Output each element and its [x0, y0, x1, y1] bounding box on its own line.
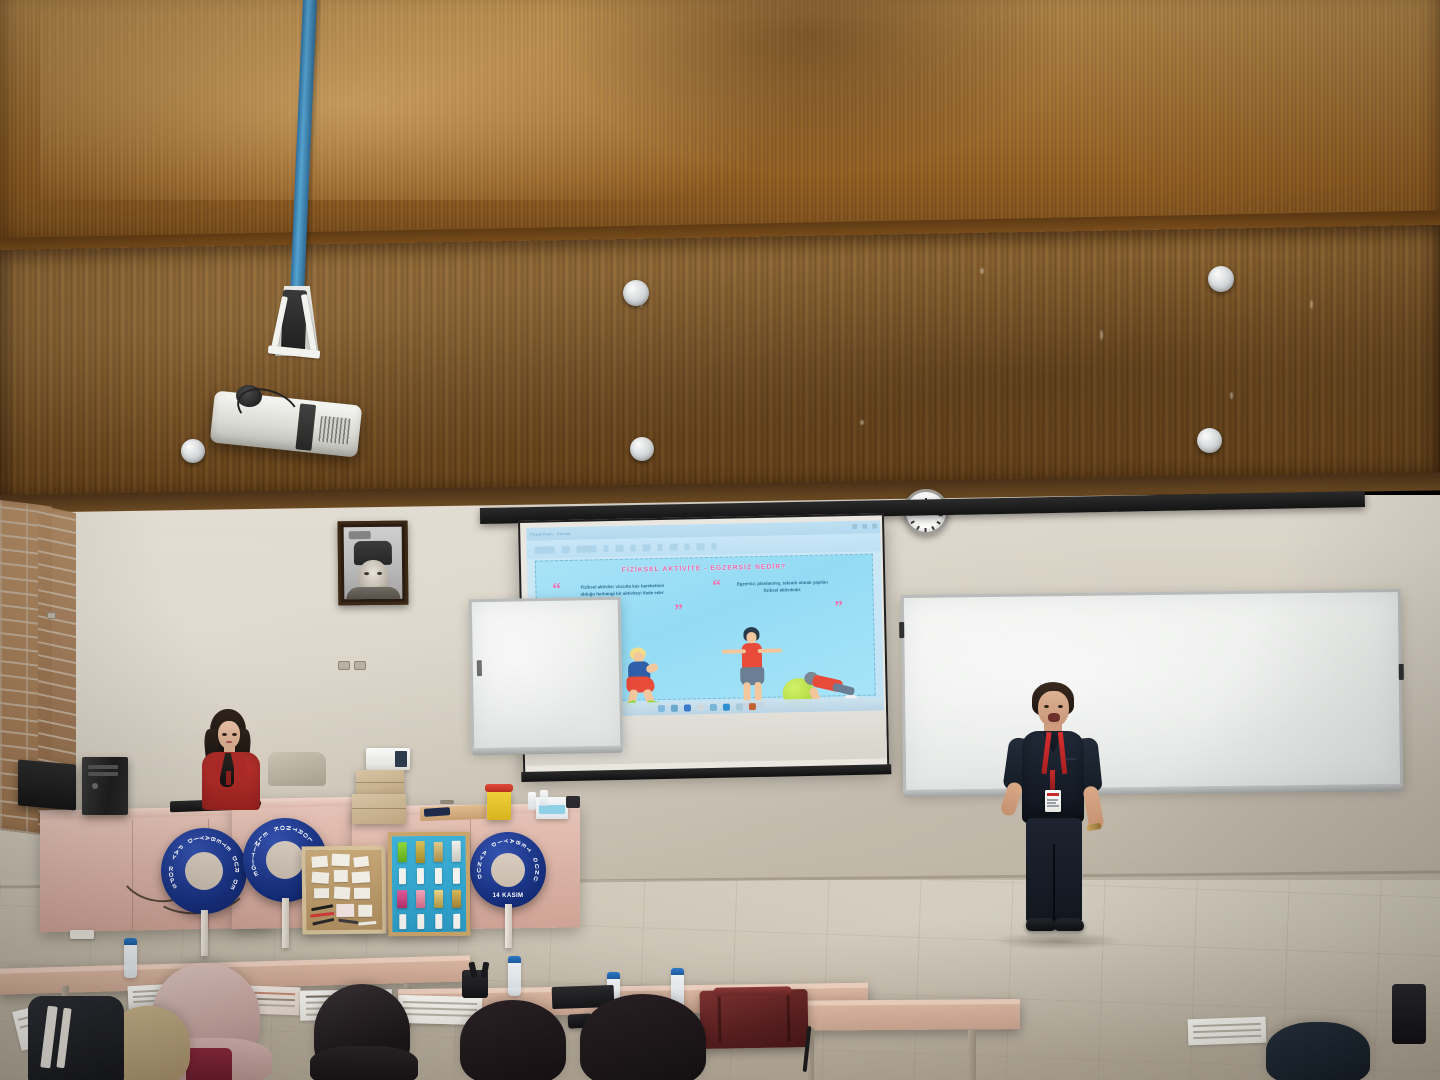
white-container [366, 748, 410, 770]
ceiling-speaker-icon [1197, 428, 1222, 453]
ceiling-speaker-icon [630, 437, 654, 461]
ppt-window-title: PowerPoint - Sunum [530, 531, 570, 537]
marker-icon[interactable] [477, 660, 482, 676]
ribbon-button[interactable] [616, 544, 624, 551]
wall-speck [980, 268, 984, 274]
ribbon-button[interactable] [535, 546, 555, 553]
portrait-body [346, 587, 400, 600]
wall-trim-piece [440, 800, 454, 804]
projector-vent-icon [318, 416, 351, 445]
small-bottle [540, 790, 548, 806]
whiteboard-left [469, 597, 624, 752]
cardboard-box [356, 770, 404, 796]
brochure[interactable] [1188, 1017, 1267, 1046]
power-outlet-icon [47, 612, 56, 619]
speaker-shoe-left [1026, 918, 1056, 931]
ribbon-button[interactable] [696, 543, 704, 550]
ribbon-button[interactable] [670, 543, 678, 550]
leather-bag[interactable] [700, 989, 809, 1049]
ceiling-shadow [560, 0, 1060, 170]
desk-leg [968, 1030, 976, 1080]
audience-head-long-hair [580, 994, 706, 1080]
quote-open-icon: “ [552, 583, 561, 595]
sign-dunya-diyabet-gunu: DÜNYA DİYABET GÜNÜ 14 KASIM [470, 832, 546, 908]
marker-icon[interactable] [899, 622, 904, 638]
speaker-shoe-right [1054, 918, 1084, 931]
teams-icon[interactable] [736, 703, 743, 710]
whiteboard-right [901, 589, 1403, 793]
mail-icon[interactable] [710, 704, 717, 711]
speaker-scrub-pants [1026, 818, 1082, 922]
monitor-back [18, 759, 76, 810]
ribbon-button[interactable] [711, 542, 716, 549]
sign-spor-yap: SPOR YAP DİYABETE DUR DE [161, 828, 247, 914]
portrait-logo-icon [349, 531, 371, 539]
ribbon-button[interactable] [658, 543, 663, 550]
powerpoint-icon[interactable] [749, 703, 756, 710]
ribbon-button[interactable] [643, 544, 651, 551]
id-badge [1045, 790, 1061, 812]
ceiling-light-glow [40, 0, 800, 200]
ataturk-portrait [338, 521, 409, 606]
power-strip [70, 930, 94, 939]
ribbon-button[interactable] [562, 545, 570, 552]
slide-quote-2: “ Egzersiz; planlanmış, tekrarlı olarak … [714, 579, 846, 595]
wall-speck [1100, 330, 1103, 340]
hijab-drape [310, 1046, 418, 1080]
sharps-container [487, 790, 511, 820]
ceiling-speaker-icon [1208, 266, 1234, 292]
wall-speck [1230, 392, 1233, 399]
equipment-right [1392, 984, 1426, 1044]
sign-spor-text: SPOR YAP DİYABETE DUR DE [161, 828, 247, 914]
lecture-hall-photo: PowerPoint - Sunum [0, 0, 1440, 1080]
moderator-face [218, 721, 240, 749]
word-icon[interactable] [723, 704, 730, 711]
quote-close-icon: ” [834, 601, 843, 613]
marker-icon[interactable] [1399, 664, 1404, 680]
sign-date-label: 14 KASIM [470, 893, 546, 899]
power-outlet-icon [354, 661, 366, 670]
ribbon-button[interactable] [631, 544, 636, 551]
search-icon[interactable] [671, 705, 678, 712]
speaker-arm-left [999, 781, 1024, 818]
small-bottle [528, 792, 536, 810]
figure-stretching-icon [727, 627, 781, 710]
quote-open-icon: “ [712, 580, 721, 592]
water-bottle[interactable] [124, 938, 137, 978]
cloth-items [268, 752, 326, 786]
minimize-icon[interactable] [852, 524, 857, 529]
wristwatch-icon [1087, 823, 1102, 831]
wall-speck [860, 420, 864, 425]
audience-head-dark-hair [460, 1000, 566, 1080]
ceiling-speaker-icon [623, 280, 649, 306]
sharps-lid [485, 784, 513, 792]
ribbon-button[interactable] [684, 543, 689, 550]
black-device [566, 796, 580, 808]
quote-close-icon: ” [674, 605, 683, 617]
lanyard-strap [226, 771, 231, 785]
slide-title: FİZİKSEL AKTİVİTE - EGZERSİZ NEDİR? [536, 562, 872, 576]
close-icon[interactable] [872, 523, 877, 528]
slide-quote-1-text: Fiziksel aktivite; vücutta kas hareketin… [574, 583, 670, 599]
pc-tower [82, 757, 128, 815]
power-outlet-icon [338, 661, 350, 670]
wall-speck [1310, 300, 1313, 309]
speaker-mouth [1048, 713, 1060, 722]
ribbon-button[interactable] [577, 545, 597, 552]
explorer-icon[interactable] [697, 704, 704, 711]
audience-top [186, 1048, 232, 1080]
audience-head-right [1266, 1022, 1370, 1080]
maximize-icon[interactable] [862, 524, 867, 529]
slide-quote-2-text: Egzersiz; planlanmış, tekrarlı olarak ya… [734, 579, 830, 595]
cork-display-board [302, 846, 387, 935]
ceiling-speaker-icon [181, 439, 205, 463]
cardboard-box [352, 794, 406, 824]
lanyard-center [1050, 770, 1055, 792]
ribbon-button[interactable] [604, 545, 609, 552]
seated-moderator [196, 709, 268, 809]
start-icon[interactable] [658, 705, 665, 712]
standing-speaker [1002, 682, 1114, 940]
edge-icon[interactable] [684, 704, 691, 711]
blue-display-board [388, 832, 471, 937]
window-controls[interactable] [852, 523, 877, 529]
projector-stripe [295, 403, 316, 450]
water-bottle[interactable] [508, 956, 521, 996]
